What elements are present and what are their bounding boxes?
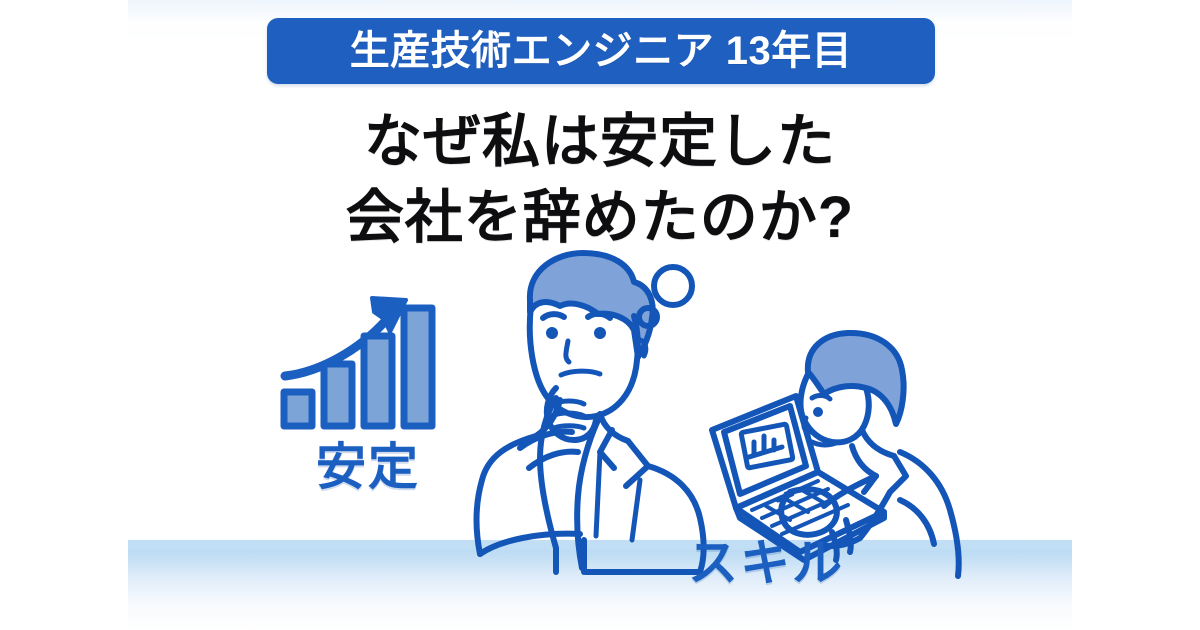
bar-4 (404, 308, 432, 426)
growth-bar-chart-icon (278, 292, 458, 452)
eyebrow (812, 395, 830, 399)
eyebrow-left (543, 314, 564, 318)
eye-left (546, 327, 558, 339)
shirt-placket (596, 452, 600, 536)
finger-3 (554, 426, 584, 428)
lapel-right (626, 441, 648, 486)
shirt-fold (632, 480, 640, 540)
collar-right (600, 414, 628, 441)
eye (813, 407, 823, 417)
screen-chart-icon (741, 424, 793, 468)
ogp-card: 生産技術エンジニア 13年目 なぜ私は安定した 会社を辞めたのか? (0, 0, 1200, 630)
bar-3 (364, 336, 392, 426)
collar-inner-left (852, 446, 876, 476)
lapel-right (890, 456, 906, 492)
body-crease (900, 500, 934, 544)
stability-label: 安定 (278, 442, 458, 492)
mouth (561, 371, 600, 375)
eye-right (594, 327, 606, 339)
chart-frame (741, 424, 793, 468)
lapel-left (600, 430, 614, 468)
cuff-lower (529, 452, 578, 468)
growth-chart-icon-group: 安定 (278, 292, 458, 522)
arm-lower-edge (480, 534, 580, 554)
skill-label: スキル (688, 538, 888, 588)
nose (566, 341, 569, 362)
neck-right (862, 430, 894, 456)
back-outline (900, 452, 959, 576)
illustration-layer (0, 0, 1200, 630)
thinking-person-figure (477, 253, 704, 572)
bar-1 (284, 392, 312, 426)
eyebrow-right (588, 314, 610, 318)
thought-bubble-large (654, 267, 692, 305)
bar-2 (324, 364, 352, 426)
finger-1 (554, 401, 584, 404)
